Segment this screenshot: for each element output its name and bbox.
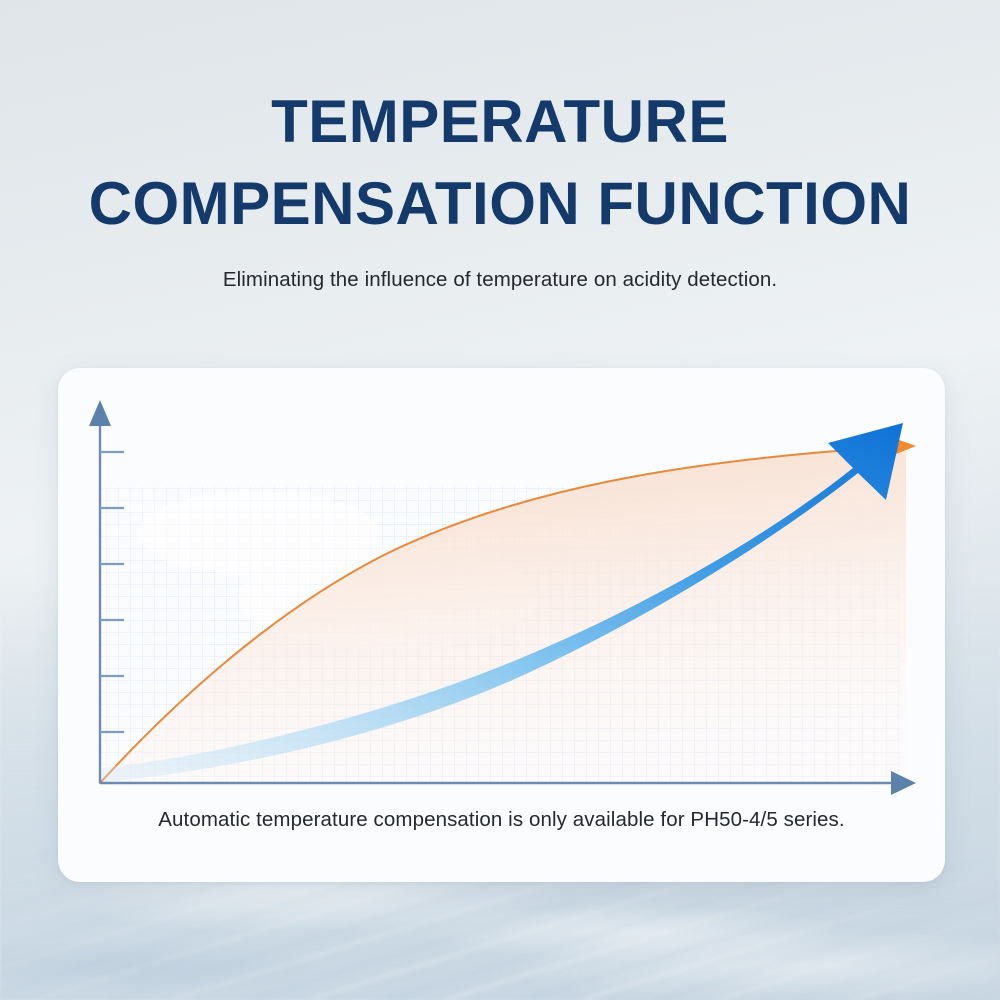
- chart-caption: Automatic temperature compensation is on…: [58, 808, 945, 832]
- header-block: TEMPERATURE COMPENSATION FUNCTION Elimin…: [0, 92, 1000, 292]
- page-title-line-1: TEMPERATURE: [0, 92, 1000, 152]
- page-root: TEMPERATURE COMPENSATION FUNCTION Elimin…: [0, 0, 1000, 1000]
- chart-container: [58, 368, 945, 808]
- page-title-line-2: COMPENSATION FUNCTION: [0, 174, 1000, 234]
- chart-card: Automatic temperature compensation is on…: [58, 368, 945, 882]
- y-axis-arrowhead-icon: [89, 400, 111, 426]
- temperature-compensation-chart: [58, 368, 945, 808]
- page-subtitle: Eliminating the influence of temperature…: [0, 268, 1000, 292]
